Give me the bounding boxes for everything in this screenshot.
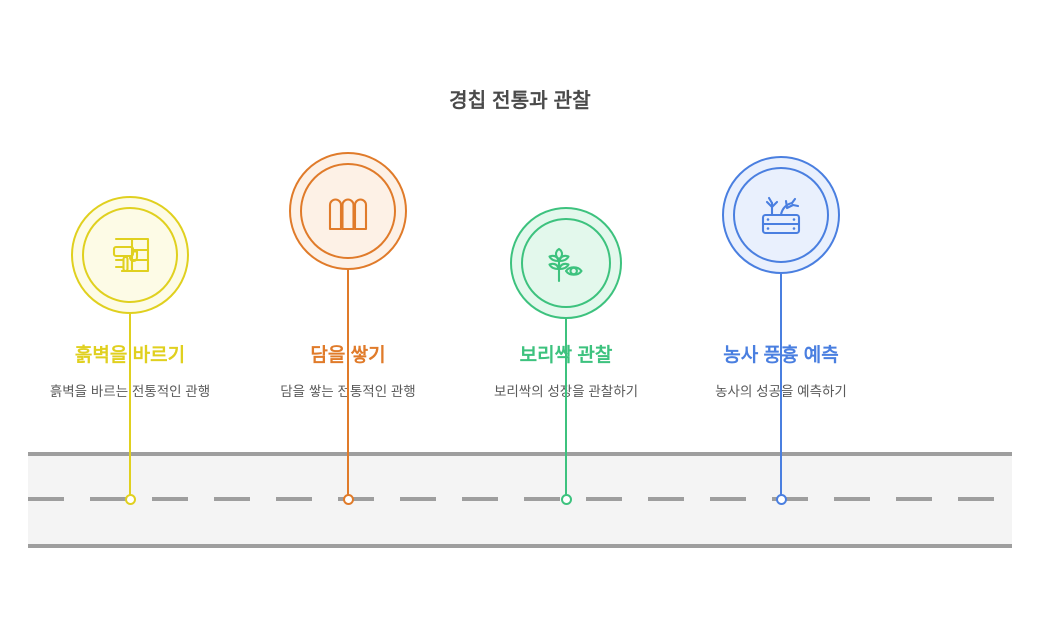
icon-badge-3[interactable] bbox=[510, 207, 622, 319]
timeline-road bbox=[28, 452, 1012, 548]
icon-badge-inner-ring bbox=[82, 207, 178, 303]
road-edge-top bbox=[28, 452, 1012, 456]
pin-marker-dot[interactable] bbox=[125, 494, 136, 505]
harvest-crate-icon bbox=[753, 187, 809, 243]
pin-marker-dot[interactable] bbox=[561, 494, 572, 505]
pin-stem bbox=[565, 319, 567, 499]
fence-wall-icon bbox=[320, 183, 376, 239]
icon-badge-2[interactable] bbox=[289, 152, 407, 270]
icon-badge-inner-ring bbox=[733, 167, 829, 263]
road-center-dashed-line bbox=[28, 497, 1012, 501]
pin-stem bbox=[347, 270, 349, 499]
sprout-eye-observe-icon bbox=[538, 235, 594, 291]
pin-stem bbox=[129, 314, 131, 499]
icon-badge-inner-ring bbox=[521, 218, 611, 308]
pin-marker-dot[interactable] bbox=[343, 494, 354, 505]
infographic-canvas: 경칩 전통과 관찰 흙벽을 바르기흙벽을 바르는 전통적인 관행담을 쌓기담을 … bbox=[0, 0, 1040, 637]
icon-badge-inner-ring bbox=[300, 163, 396, 259]
icon-badge-1[interactable] bbox=[71, 196, 189, 314]
pin-marker-dot[interactable] bbox=[776, 494, 787, 505]
icon-badge-4[interactable] bbox=[722, 156, 840, 274]
pin-stem bbox=[780, 274, 782, 499]
paint-roller-wall-icon bbox=[102, 227, 158, 283]
page-title: 경칩 전통과 관찰 bbox=[0, 84, 1040, 113]
road-edge-bottom bbox=[28, 544, 1012, 548]
